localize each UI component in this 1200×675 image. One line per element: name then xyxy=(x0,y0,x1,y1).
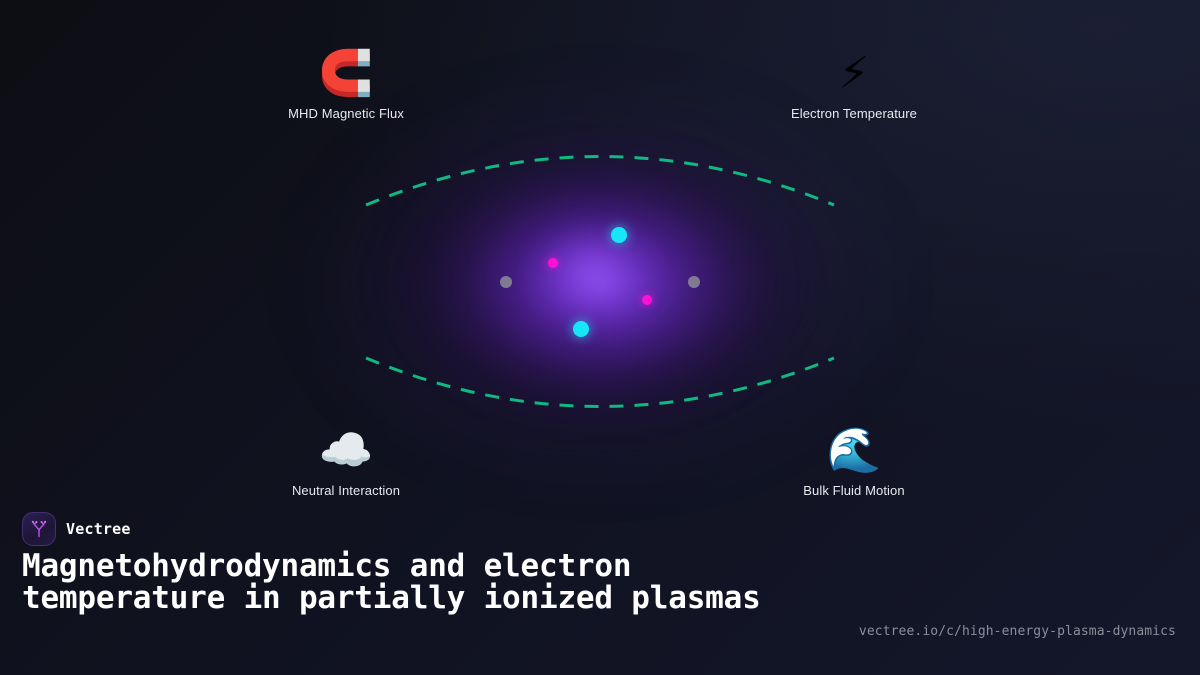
brand-row: Vectree xyxy=(22,512,131,546)
social-card-canvas: 🧲 MHD Magnetic Flux ⚡ Electron Temperatu… xyxy=(0,0,1200,675)
lightning-bolt-icon: ⚡ xyxy=(754,48,954,100)
brand-name: Vectree xyxy=(66,520,131,538)
magnet-icon: 🧲 xyxy=(246,48,446,100)
concept-node-label: Electron Temperature xyxy=(754,106,954,121)
concept-node-label: Bulk Fluid Motion xyxy=(754,483,954,498)
plasma-hot-spot xyxy=(532,225,652,315)
plasma-core-glow xyxy=(380,128,820,438)
particle-neutral xyxy=(688,276,700,288)
cloud-icon: ☁️ xyxy=(246,425,446,477)
particle-electron xyxy=(642,295,652,305)
ocean-wave-icon: 🌊 xyxy=(754,425,954,477)
field-line-arc-top xyxy=(366,157,834,206)
concept-node-neutral-interaction: ☁️ Neutral Interaction xyxy=(246,425,446,498)
concept-node-mhd-magnetic-flux: 🧲 MHD Magnetic Flux xyxy=(246,48,446,121)
field-line-arc-bottom xyxy=(366,358,834,407)
page-title: Magnetohydrodynamics and electron temper… xyxy=(22,550,782,614)
concept-node-label: Neutral Interaction xyxy=(246,483,446,498)
particle-ion xyxy=(573,321,589,337)
particle-ion xyxy=(611,227,627,243)
concept-node-electron-temperature: ⚡ Electron Temperature xyxy=(754,48,954,121)
concept-node-bulk-fluid-motion: 🌊 Bulk Fluid Motion xyxy=(754,425,954,498)
vectree-tree-logo-icon xyxy=(29,519,49,539)
particle-electron xyxy=(548,258,558,268)
concept-node-label: MHD Magnetic Flux xyxy=(246,106,446,121)
footer-url: vectree.io/c/high-energy-plasma-dynamics xyxy=(859,624,1176,639)
particle-neutral xyxy=(500,276,512,288)
vectree-logo xyxy=(22,512,56,546)
